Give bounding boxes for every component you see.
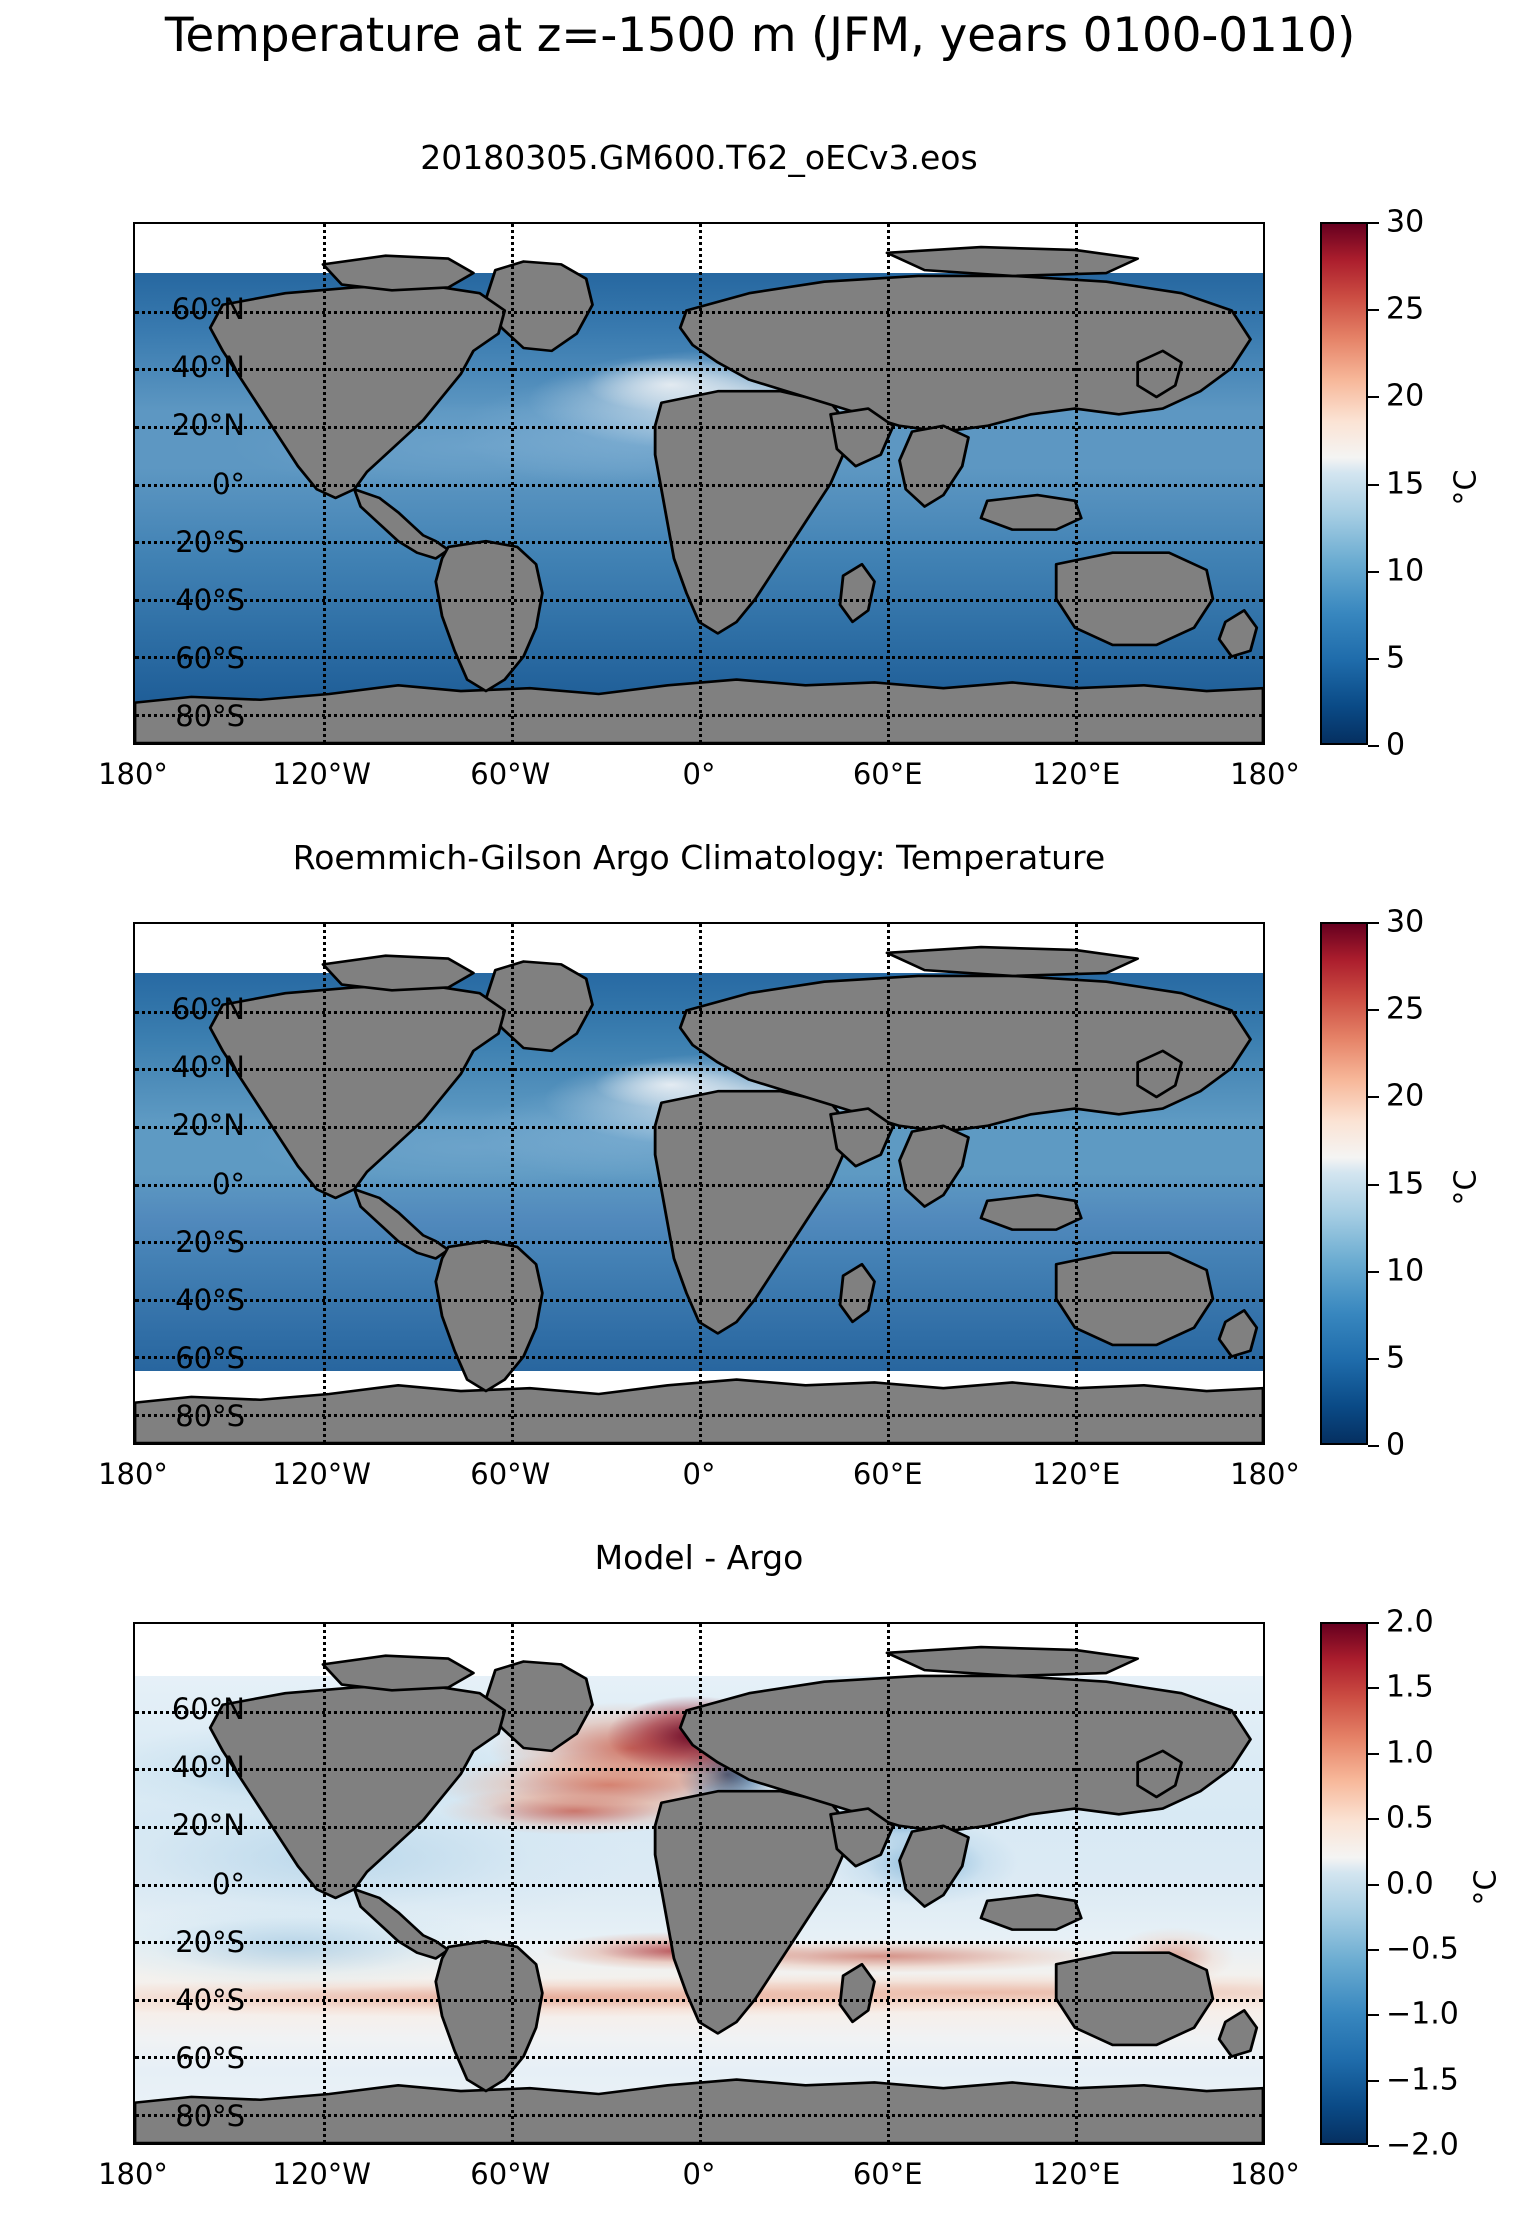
xtick-label-0: 0° — [683, 757, 716, 791]
ytick-label-diff-40N: 40°N — [172, 1750, 245, 1784]
map-model[interactable] — [133, 222, 1265, 745]
xtick-label-argo-0: 0° — [683, 1457, 716, 1491]
map-difference[interactable] — [133, 1622, 1265, 2145]
panel-title-difference: Model - Argo — [133, 1538, 1265, 1577]
xtick-label-argo-120E: 120°E — [1032, 1457, 1120, 1491]
xtick-label-180W: 180° — [98, 757, 168, 791]
ytick-label-argo-40S: 40°S — [175, 1283, 245, 1317]
xtick-label-argo-60W: 60°W — [470, 1457, 550, 1491]
colorbar-unit-argo: °C — [1448, 1170, 1483, 1206]
xtick-label-diff-180E: 180° — [1230, 2157, 1300, 2191]
xtick-label-argo-120W: 120°W — [272, 1457, 371, 1491]
ytick-label-argo-60N: 60°N — [172, 992, 245, 1026]
ytick-label-60S: 60°S — [175, 641, 245, 675]
xtick-label-diff-0: 0° — [683, 2157, 716, 2191]
xtick-label-180E: 180° — [1230, 757, 1300, 791]
ytick-label-diff-80S: 80°S — [175, 2099, 245, 2133]
xtick-label-diff-180W: 180° — [98, 2157, 168, 2191]
ytick-label-40N: 40°N — [172, 350, 245, 384]
ytick-label-argo-0: 0° — [212, 1167, 245, 1201]
ytick-label-80S: 80°S — [175, 699, 245, 733]
ytick-label-diff-40S: 40°S — [175, 1983, 245, 2017]
ytick-label-60N: 60°N — [172, 292, 245, 326]
ytick-label-argo-20N: 20°N — [172, 1108, 245, 1142]
ytick-label-diff-60N: 60°N — [172, 1692, 245, 1726]
coastlines-difference — [135, 1624, 1263, 2143]
ytick-label-diff-60S: 60°S — [175, 2041, 245, 2075]
xtick-label-diff-120E: 120°E — [1032, 2157, 1120, 2191]
ytick-label-argo-40N: 40°N — [172, 1050, 245, 1084]
xtick-label-argo-60E: 60°E — [853, 1457, 923, 1491]
coastlines-model — [135, 224, 1263, 743]
ytick-label-argo-80S: 80°S — [175, 1399, 245, 1433]
xtick-label-60E: 60°E — [853, 757, 923, 791]
map-argo[interactable] — [133, 922, 1265, 1445]
figure-suptitle: Temperature at z=-1500 m (JFM, years 010… — [0, 8, 1520, 63]
xtick-label-120W: 120°W — [272, 757, 371, 791]
panel-title-model: 20180305.GM600.T62_oECv3.eos — [133, 138, 1265, 177]
ytick-label-argo-20S: 20°S — [175, 1225, 245, 1259]
xtick-label-argo-180W: 180° — [98, 1457, 168, 1491]
ytick-label-20N: 20°N — [172, 408, 245, 442]
xtick-label-argo-180E: 180° — [1230, 1457, 1300, 1491]
ytick-label-diff-0: 0° — [212, 1867, 245, 1901]
xtick-label-120E: 120°E — [1032, 757, 1120, 791]
ytick-label-0: 0° — [212, 467, 245, 501]
xtick-label-diff-60E: 60°E — [853, 2157, 923, 2191]
xtick-label-diff-60W: 60°W — [470, 2157, 550, 2191]
ytick-label-40S: 40°S — [175, 583, 245, 617]
xtick-label-diff-120W: 120°W — [272, 2157, 371, 2191]
panel-title-argo: Roemmich-Gilson Argo Climatology: Temper… — [133, 838, 1265, 877]
coastlines-argo — [135, 924, 1263, 1443]
ytick-label-20S: 20°S — [175, 525, 245, 559]
colorbar-unit-model: °C — [1448, 470, 1483, 506]
xtick-label-60W: 60°W — [470, 757, 550, 791]
colorbar-unit-difference: °C — [1468, 1870, 1503, 1906]
ytick-label-argo-60S: 60°S — [175, 1341, 245, 1375]
ytick-label-diff-20N: 20°N — [172, 1808, 245, 1842]
ytick-label-diff-20S: 20°S — [175, 1925, 245, 1959]
figure-root: Temperature at z=-1500 m (JFM, years 010… — [0, 0, 1520, 2235]
